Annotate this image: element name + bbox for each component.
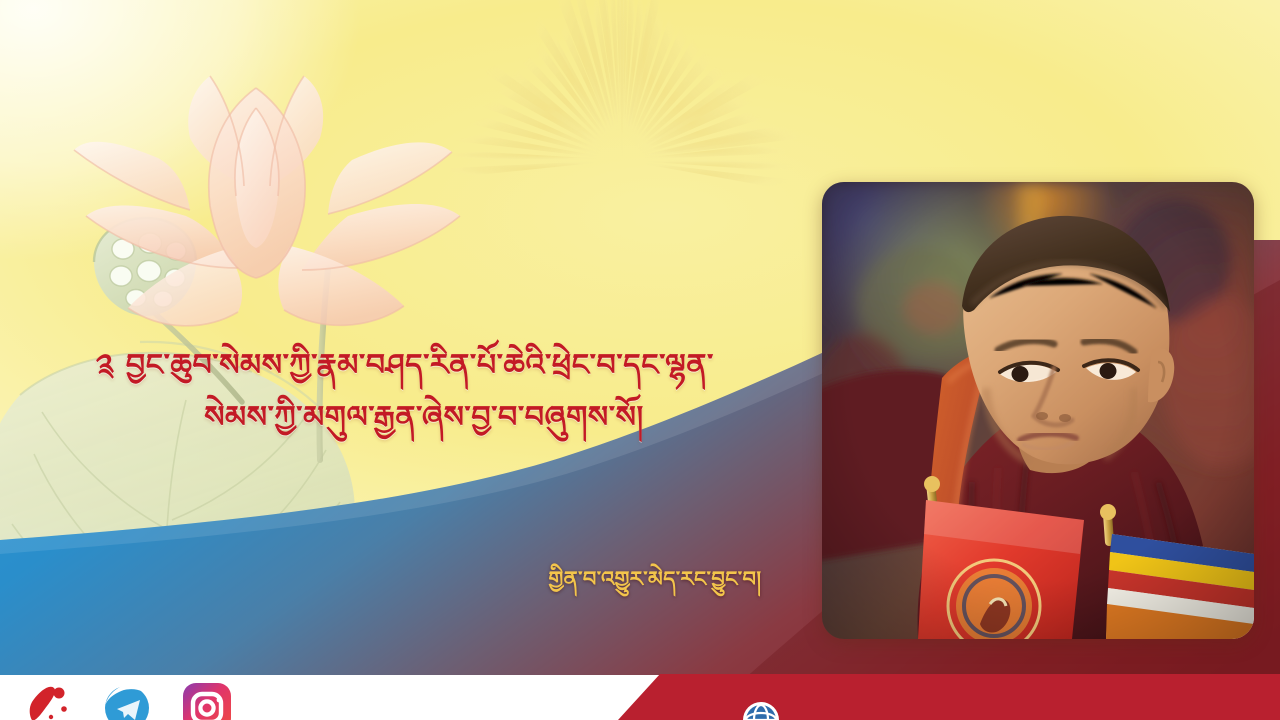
title-line-2: སེམས་ཀྱི་མགུལ་རྒྱན་ཞེས་བྱ་བ་བཞུགས་སོ།: [38, 392, 810, 444]
social-links[interactable]: [18, 676, 236, 720]
weibo-icon[interactable]: [18, 676, 76, 720]
book-title: ༉ བྱང་ཆུབ་སེམས་ཀྱི་རྣམ་བཤད་རིན་པོ་ཆེའི་ཕ…: [0, 340, 810, 443]
instagram-icon[interactable]: [178, 676, 236, 720]
title-line-1: ༉ བྱང་ཆུབ་སེམས་ཀྱི་རྣམ་བཤད་རིན་པོ་ཆེའི་ཕ…: [0, 340, 810, 392]
monk-photograph: [822, 182, 1254, 639]
globe-icon[interactable]: [733, 690, 789, 720]
author-subtitle: གྱིན་བ་འགྱུར་མེད་རང་བྱུང་བ།: [440, 556, 870, 615]
poster-canvas: ༉ བྱང་ཆུབ་སེམས་ཀྱི་རྣམ་བཤད་རིན་པོ་ཆེའི་ཕ…: [0, 0, 1280, 720]
telegram-icon[interactable]: [98, 676, 156, 720]
